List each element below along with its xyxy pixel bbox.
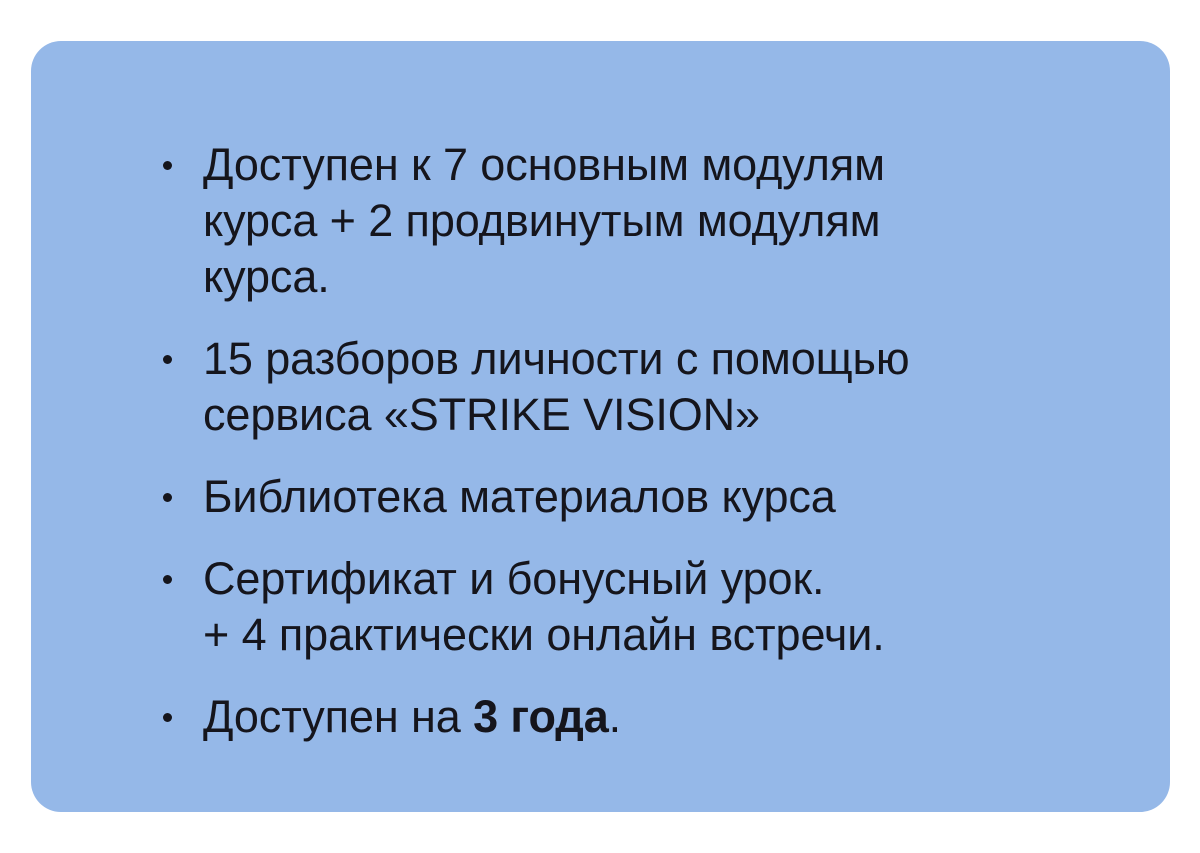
benefit-text: Библиотека материалов курса: [203, 469, 1110, 525]
benefits-card: Доступен к 7 основным модулям курса + 2 …: [31, 41, 1170, 812]
bullet-dot-icon: [163, 713, 172, 722]
benefit-list-item: Библиотека материалов курса: [137, 469, 1110, 525]
slide-canvas: Доступен к 7 основным модулям курса + 2 …: [0, 0, 1200, 853]
benefit-text: Доступен на 3 года.: [203, 689, 1110, 745]
benefit-list-item: 15 разборов личности с помощью сервиса «…: [137, 331, 1110, 443]
benefit-text-base: Доступен к 7 основным модулям курса + 2 …: [203, 139, 885, 302]
benefit-text: Сертификат и бонусный урок. + 4 практиче…: [203, 551, 1110, 663]
bullet-dot-icon: [163, 575, 172, 584]
benefit-text: 15 разборов личности с помощью сервиса «…: [203, 331, 1110, 443]
benefit-text: Доступен к 7 основным модулям курса + 2 …: [203, 137, 1110, 305]
benefits-list: Доступен к 7 основным модулям курса + 2 …: [137, 137, 1110, 745]
benefit-text-suffix: .: [609, 691, 621, 742]
benefit-list-item: Сертификат и бонусный урок. + 4 практиче…: [137, 551, 1110, 663]
benefit-text-base: Доступен на: [203, 691, 473, 742]
benefit-list-item: Доступен на 3 года.: [137, 689, 1110, 745]
bullet-dot-icon: [163, 161, 172, 170]
benefit-text-base: Библиотека материалов курса: [203, 471, 836, 522]
benefit-text-base: Сертификат и бонусный урок. + 4 практиче…: [203, 553, 885, 660]
benefit-text-emphasis: 3 года: [473, 691, 609, 742]
benefit-list-item: Доступен к 7 основным модулям курса + 2 …: [137, 137, 1110, 305]
bullet-dot-icon: [163, 493, 172, 502]
bullet-dot-icon: [163, 355, 172, 364]
benefit-text-base: 15 разборов личности с помощью сервиса «…: [203, 333, 910, 440]
